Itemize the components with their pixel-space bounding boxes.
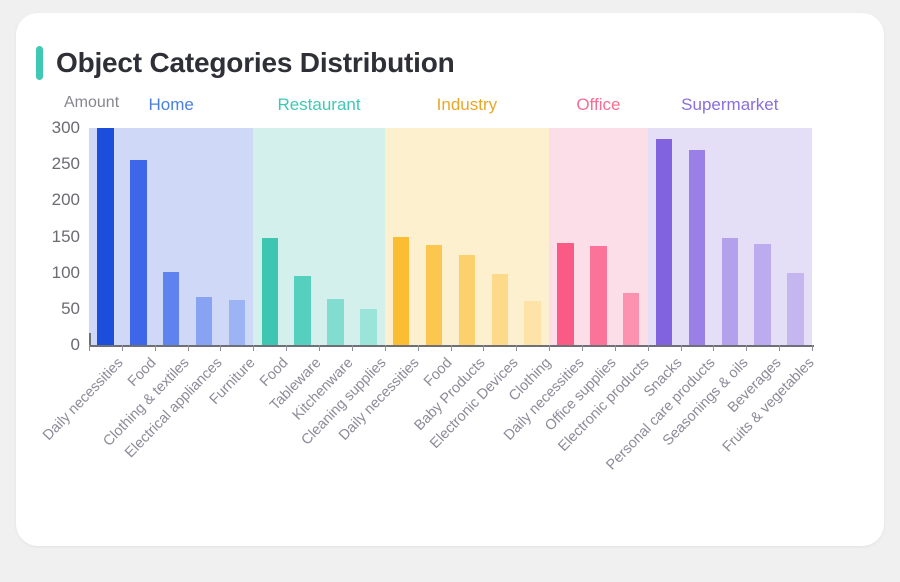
bar[interactable] [459, 255, 475, 345]
x-axis-tick-mark [418, 345, 419, 351]
bar[interactable] [294, 276, 310, 345]
bar[interactable] [722, 238, 738, 345]
y-axis-tick-label: 250 [34, 154, 80, 174]
x-axis-tick-mark [681, 345, 682, 351]
x-axis-tick-mark [779, 345, 780, 351]
x-axis-tick-mark [746, 345, 747, 351]
bar[interactable] [492, 274, 508, 345]
x-axis-tick-mark [549, 345, 550, 351]
x-axis-tick-mark [615, 345, 616, 351]
y-axis-tick-label: 100 [34, 263, 80, 283]
bar[interactable] [590, 246, 606, 345]
x-axis-tick-mark [451, 345, 452, 351]
y-axis-tick-label: 200 [34, 190, 80, 210]
x-axis-tick-mark [188, 345, 189, 351]
bar[interactable] [196, 297, 212, 345]
chart-card: Object Categories Distribution Amount 05… [16, 13, 884, 546]
x-axis-tick-mark [319, 345, 320, 351]
x-axis-tick-mark [582, 345, 583, 351]
x-axis-tick-mark [122, 345, 123, 351]
x-axis-tick-mark [713, 345, 714, 351]
bar[interactable] [262, 238, 278, 345]
x-axis-tick-mark [220, 345, 221, 351]
bar[interactable] [327, 299, 343, 345]
x-axis-line [89, 345, 814, 347]
group-label-home: Home [148, 95, 193, 115]
x-axis-tick-mark [648, 345, 649, 351]
group-label-supermarket: Supermarket [681, 95, 778, 115]
bar[interactable] [689, 150, 705, 345]
bar[interactable] [393, 237, 409, 346]
x-axis-tick-mark [352, 345, 353, 351]
y-axis-tick-label: 0 [34, 335, 80, 355]
bar[interactable] [623, 293, 639, 345]
x-axis-tick-mark [89, 345, 90, 351]
y-axis-title: Amount [64, 94, 119, 112]
group-label-restaurant: Restaurant [277, 95, 360, 115]
x-axis-tick-mark [483, 345, 484, 351]
bar[interactable] [130, 160, 146, 345]
y-axis-tick-label: 150 [34, 227, 80, 247]
bar[interactable] [557, 243, 573, 345]
bar[interactable] [426, 245, 442, 345]
y-axis-tick-label: 50 [34, 299, 80, 319]
x-axis-tick-mark [286, 345, 287, 351]
x-axis-tick-mark [516, 345, 517, 351]
group-label-office: Office [576, 95, 620, 115]
group-label-industry: Industry [437, 95, 497, 115]
x-axis-tick-mark [155, 345, 156, 351]
x-axis-tick-mark [385, 345, 386, 351]
chart-plot-area: Amount 050100150200250300 HomeRestaurant… [16, 13, 884, 546]
bar[interactable] [229, 300, 245, 345]
bar[interactable] [97, 128, 113, 345]
bar[interactable] [163, 272, 179, 345]
bar[interactable] [360, 309, 376, 345]
bar[interactable] [754, 244, 770, 345]
x-axis-tick-mark [812, 345, 813, 351]
y-axis-tick-label: 300 [34, 118, 80, 138]
bar[interactable] [787, 273, 803, 345]
bar[interactable] [524, 301, 540, 345]
bar[interactable] [656, 139, 672, 345]
x-axis-tick-mark [253, 345, 254, 351]
